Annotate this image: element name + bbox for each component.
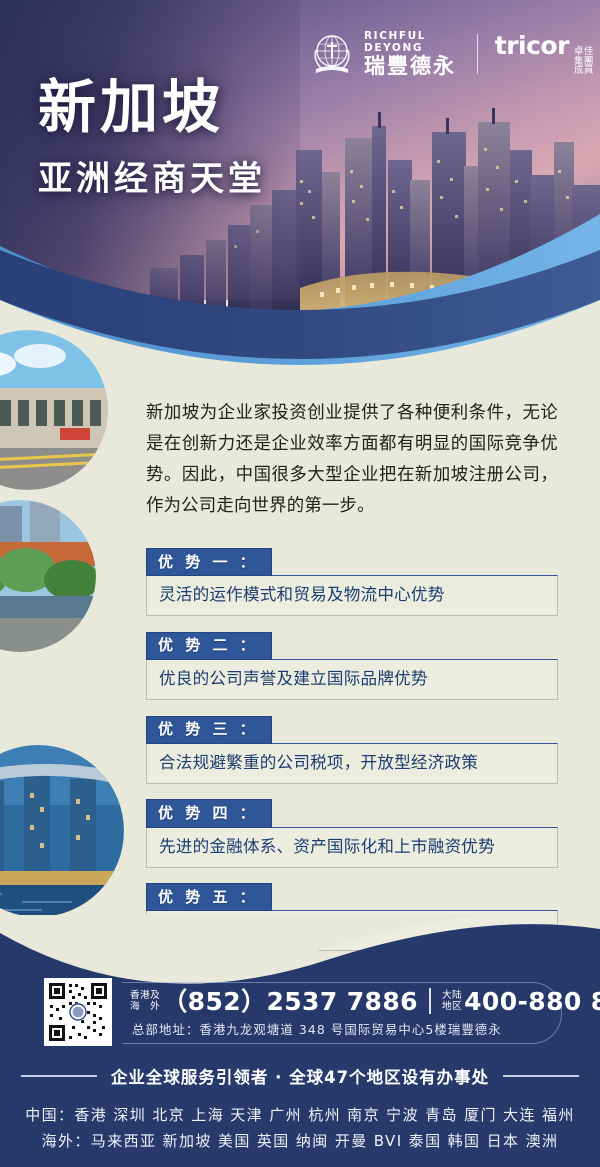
phone-separator [429,988,431,1014]
partner-tagline: 卓佳集團成員 [574,47,600,76]
hk-phone-tag: 香港及 海 外 [130,990,160,1012]
brand-english-name: RICHFUL DEYONG [364,30,460,54]
globe-wreath-crest-icon [308,30,356,78]
china-offices-row: 中国：香港 深圳 北京 上海 天津 广州 杭州 南京 宁波 青岛 厦门 大连 福… [0,1104,600,1125]
footer-slogan: 企业全球服务引领者 · 全球47个地区设有办事处 [111,1064,489,1088]
overseas-offices-row: 海外：马来西亚 新加坡 美国 英国 纳闽 开曼 BVI 泰国 韩国 日本 澳洲 [0,1130,600,1151]
photo-ring-3 [0,740,129,922]
advantage-label-2: 优 势 二 ： [146,632,272,660]
hk-phone-number[interactable]: （852）2537 7886 [162,989,418,1014]
advantage-text-3: 合法规避繁重的公司税项，开放型经济政策 [146,743,558,784]
cn-phone-tag: 大陆 地区 [442,990,462,1012]
advantage-label-1: 优 势 一 ： [146,548,272,576]
brand-name-block: RICHFUL DEYONG 瑞豐德永 [364,30,460,79]
hk-phone-tag-line1: 香港及 [130,990,160,1001]
advantage-item-4[interactable]: 优 势 四 ： 先进的金融体系、资产国际化和上市融资优势 [146,799,558,867]
phone-row: 香港及 海 外 （852）2537 7886 大陆 地区 400-880 809… [130,988,600,1014]
intro-paragraph: 新加坡为企业家投资创业提供了各种便利条件，无论是在创新力还是企业效率方面都有明显… [146,398,558,522]
poster-root: 新加坡 亚洲经商天堂 RICHFUL DEYONG 瑞豐德永 tri [0,0,600,1167]
advantage-text-1: 灵活的运作模式和贸易及物流中心优势 [146,575,558,616]
advantage-item-2[interactable]: 优 势 二 ： 优良的公司声誉及建立国际品牌优势 [146,632,558,700]
brand-chinese-name: 瑞豐德永 [364,55,460,79]
partner-name: tricor [495,33,569,58]
photo-ring-2 [0,495,101,657]
advantage-text-2: 优良的公司声誉及建立国际品牌优势 [146,659,558,700]
qr-code-icon[interactable] [44,978,112,1046]
cn-phone-tag-line2: 地区 [442,1001,462,1012]
page-subtitle: 亚洲经商天堂 [38,162,338,196]
hero-title-block: 新加坡 亚洲经商天堂 [38,78,338,196]
brand-logo[interactable]: RICHFUL DEYONG 瑞豐德永 tricor 卓佳集團成員 [308,30,600,79]
partner-brand: tricor 卓佳集團成員 [495,33,600,76]
advantages-list: 优 势 一 ： 灵活的运作模式和贸易及物流中心优势 优 势 二 ： 优良的公司声… [146,548,558,967]
advantage-item-1[interactable]: 优 势 一 ： 灵活的运作模式和贸易及物流中心优势 [146,548,558,616]
headquarters-address: 总部地址：香港九龙观塘道 348 号国际贸易中心5楼瑞豐德永 [132,1020,502,1038]
contact-panel: 香港及 海 外 （852）2537 7886 大陆 地区 400-880 809… [122,982,562,1044]
slogan-rule-left [21,1075,97,1077]
cn-phone-number[interactable]: 400-880 8098 [464,989,600,1014]
advantage-label-5: 优 势 五 ： [146,883,272,911]
page-title: 新加坡 [38,78,338,136]
logo-divider [477,34,478,74]
cn-phone-tag-line1: 大陆 [442,990,462,1001]
advantage-text-4: 先进的金融体系、资产国际化和上市融资优势 [146,827,558,868]
advantage-item-3[interactable]: 优 势 三 ： 合法规避繁重的公司税项，开放型经济政策 [146,716,558,784]
advantage-label-4: 优 势 四 ： [146,799,272,827]
slogan-rule-right [503,1075,579,1077]
advantage-label-3: 优 势 三 ： [146,716,272,744]
footer-slogan-row: 企业全球服务引领者 · 全球47个地区设有办事处 [0,1064,600,1088]
hk-phone-tag-line2: 海 外 [130,1001,160,1012]
